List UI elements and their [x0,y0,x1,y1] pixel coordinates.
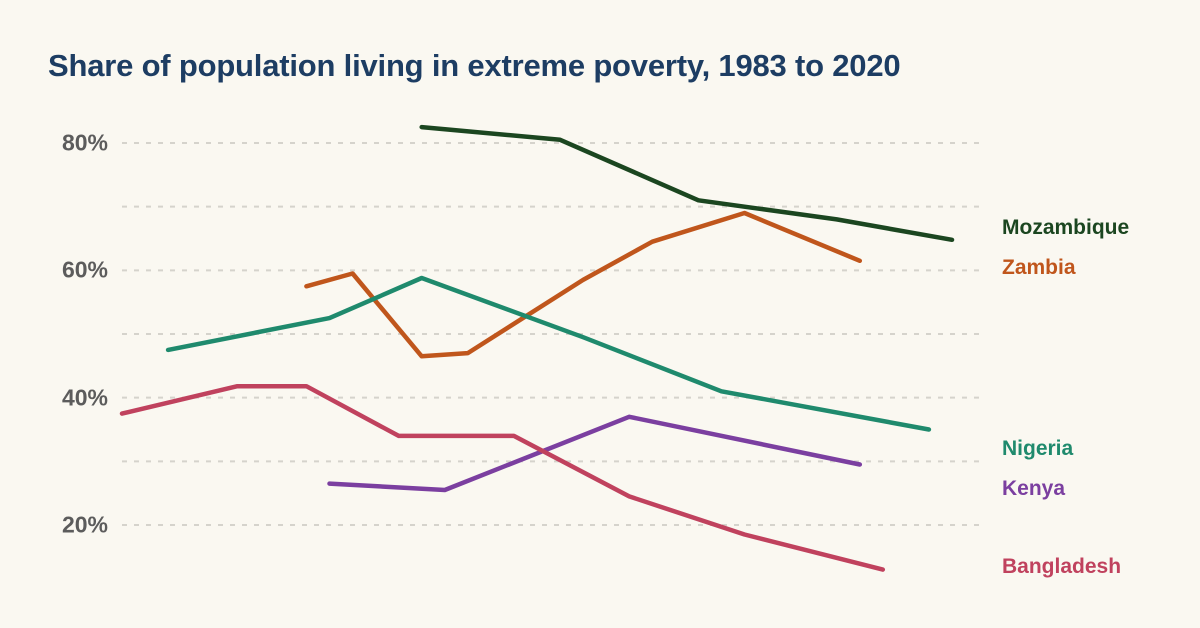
series-line-mozambique[interactable] [422,127,952,240]
legend-label-zambia[interactable]: Zambia [1002,256,1076,280]
line-chart-plot [0,0,1200,628]
y-axis-tick-label: 80% [28,130,108,157]
series-line-bangladesh[interactable] [122,386,883,569]
legend-label-bangladesh[interactable]: Bangladesh [1002,555,1121,579]
legend-label-kenya[interactable]: Kenya [1002,477,1065,501]
series-lines [122,127,952,569]
y-axis-tick-label: 40% [28,384,108,411]
y-axis-tick-label: 60% [28,257,108,284]
chart-container: Share of population living in extreme po… [0,0,1200,628]
y-axis-tick-label: 20% [28,512,108,539]
legend-label-nigeria[interactable]: Nigeria [1002,437,1073,461]
legend-label-mozambique[interactable]: Mozambique [1002,216,1129,240]
